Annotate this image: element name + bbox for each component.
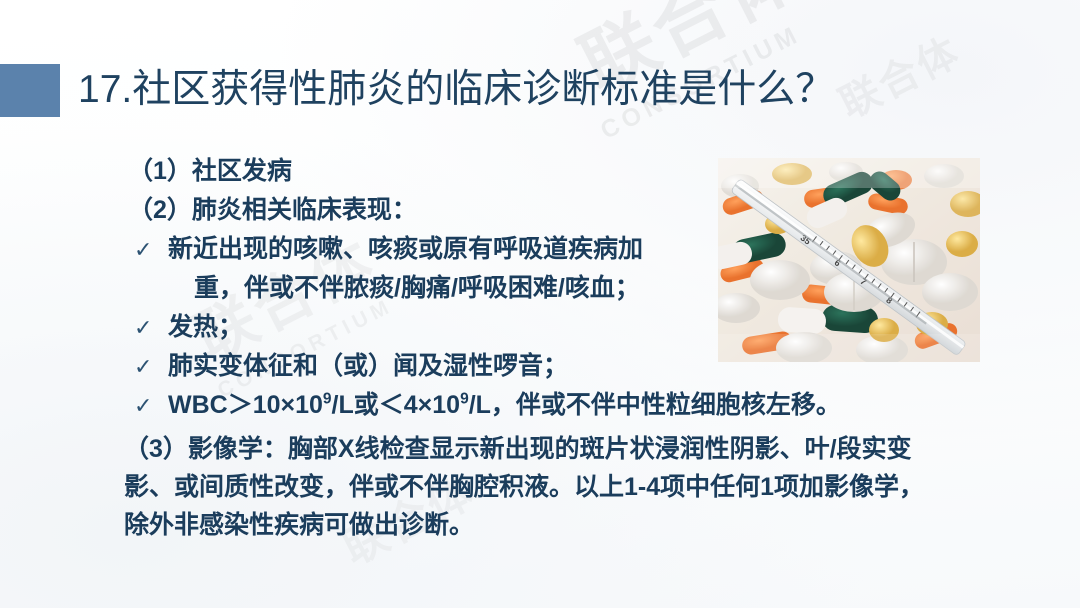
wbc-middle: /L或＜4×10: [332, 391, 461, 419]
title-accent-marker: [0, 64, 60, 117]
content-paragraph-3: （3）影像学：胸部X线检查显示新出现的斑片状浸润性阴影、叶/段实变 影、或间质性…: [124, 430, 1004, 544]
bullet-text: 新近出现的咳嗽、咳痰或原有呼吸道疾病加 重，伴或不伴脓痰/胸痛/呼吸困难/咳血；: [168, 230, 738, 308]
pills-thermometer-photo: 35 6 7 8: [718, 158, 980, 362]
wbc-exponent-2: 9: [460, 391, 469, 408]
wbc-formula: WBC＞10×109/L或＜4×109/L，伴或不伴中性粒细胞核左移。: [168, 391, 841, 419]
check-icon: ✓: [128, 347, 168, 386]
bullet-line-1: 肺实变体征和（或）闻及湿性啰音；: [168, 352, 568, 380]
check-icon: ✓: [128, 308, 168, 347]
bullet-text-wbc: WBC＞10×109/L或＜4×109/L，伴或不伴中性粒细胞核左移。: [168, 386, 948, 425]
page-title: 17.社区获得性肺炎的临床诊断标准是什么？: [78, 62, 834, 118]
check-icon: ✓: [128, 386, 168, 425]
check-icon: ✓: [128, 230, 168, 269]
paragraph-line-2: 影、或间质性改变，伴或不伴胸腔积液。以上1-4项中任何1项加影像学，: [124, 468, 1004, 506]
watermark-chinese-right: 联合体: [828, 19, 969, 129]
bullet-text: 发热；: [168, 308, 738, 347]
wbc-suffix: /L，伴或不伴中性粒细胞核左移。: [469, 391, 841, 419]
bullet-line-1: 发热；: [168, 313, 243, 341]
paragraph-line-1: （3）影像学：胸部X线检查显示新出现的斑片状浸润性阴影、叶/段实变: [124, 430, 1004, 468]
paragraph-line-3: 除外非感染性疾病可做出诊断。: [124, 506, 1004, 544]
wbc-exponent-1: 9: [323, 391, 332, 408]
bullet-line-1: 新近出现的咳嗽、咳痰或原有呼吸道疾病加: [168, 235, 643, 263]
wbc-prefix: WBC＞10×10: [168, 391, 323, 419]
bullet-line-2: 重，伴或不伴脓痰/胸痛/呼吸困难/咳血；: [168, 274, 640, 302]
slide: 联合体 CONSORTIUM 联合体 CONSORTIUM 联合体 联合体 17…: [0, 0, 1080, 608]
list-item-wbc: ✓ WBC＞10×109/L或＜4×109/L，伴或不伴中性粒细胞核左移。: [128, 386, 948, 425]
